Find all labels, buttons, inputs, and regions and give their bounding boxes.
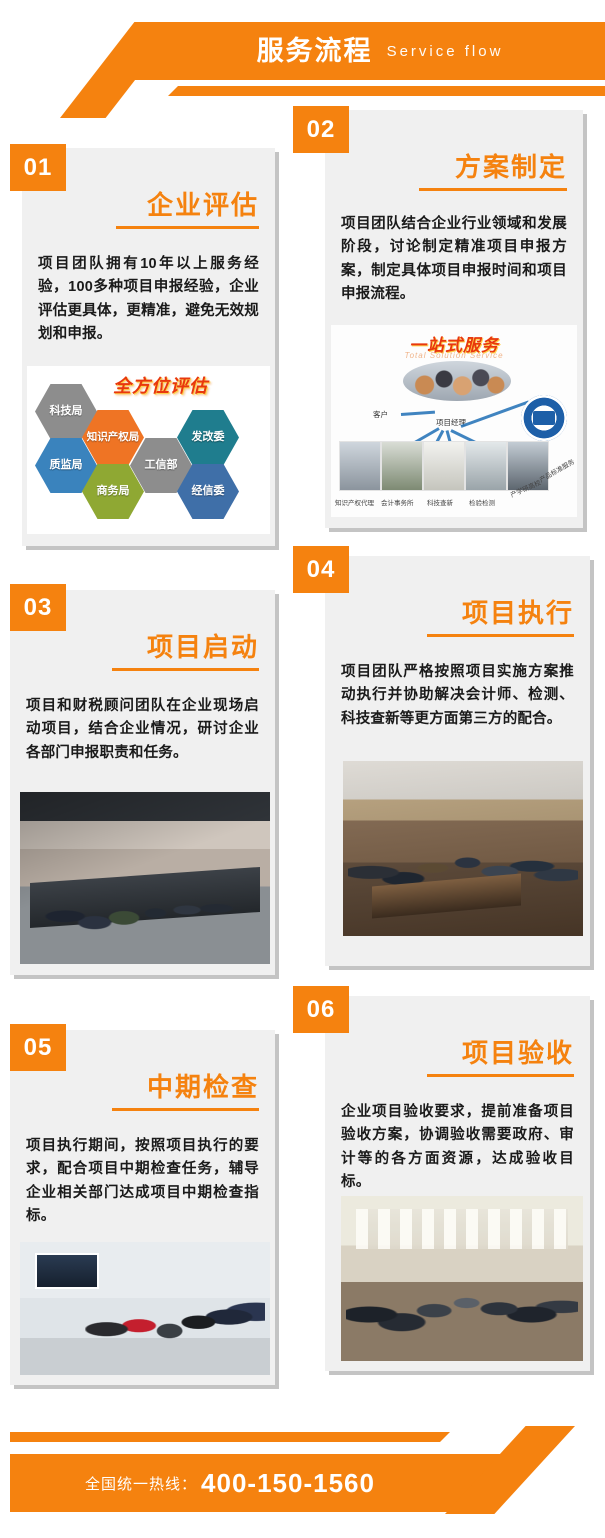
title-underline bbox=[116, 226, 259, 229]
footer-hotline-label: 全国统一热线： bbox=[85, 1473, 197, 1494]
one-stop-arrow bbox=[401, 411, 435, 416]
one-stop-label-search: 科技查新 bbox=[427, 497, 453, 507]
step-number-badge: 02 bbox=[293, 106, 349, 153]
title-underline bbox=[112, 668, 259, 671]
showroom-visit-photo bbox=[20, 1242, 270, 1375]
card-description: 项目团队拥有10年以上服务经验，100多种项目申报经验，企业评估更具体，更精准，… bbox=[38, 253, 259, 347]
step-number-badge: 05 bbox=[10, 1024, 66, 1071]
meeting-desk-photo bbox=[343, 761, 583, 936]
one-stop-thumb-search bbox=[423, 441, 465, 491]
step-card-06[interactable]: 项目验收 企业项目验收要求，提前准备项目验收方案，协调验收需要政府、审计等的各方… bbox=[325, 996, 590, 1371]
one-stop-service-diagram: 一站式服务 Total Solution Service 客户 项目经理 知识产… bbox=[331, 325, 577, 517]
page-footer: 全国统一热线： 400-150-1560 bbox=[0, 1402, 605, 1538]
one-stop-thumb-testing bbox=[465, 441, 507, 491]
conference-room-photo bbox=[20, 792, 270, 964]
page-header: 服务流程 Service flow bbox=[0, 0, 605, 118]
boardroom-photo bbox=[341, 1196, 583, 1361]
header-underline-stripe bbox=[178, 86, 605, 96]
one-stop-arrow bbox=[460, 400, 529, 427]
one-stop-team-photo bbox=[403, 361, 511, 401]
step-card-05[interactable]: 中期检查 项目执行期间，按照项目执行的要求，配合项目中期检查任务，辅导企业相关部… bbox=[10, 1030, 275, 1385]
card-description: 项目和财税顾问团队在企业现场启动项目，结合企业情况，研讨企业各部门申报职责和任务… bbox=[26, 695, 259, 765]
page-title: 服务流程 bbox=[257, 38, 373, 65]
card-title: 项目启动 bbox=[26, 634, 259, 660]
footer-hotline-number[interactable]: 400-150-1560 bbox=[201, 1468, 375, 1499]
title-underline bbox=[427, 1074, 574, 1077]
one-stop-subtitle: Total Solution Service bbox=[331, 351, 577, 360]
step-card-02[interactable]: 方案制定 项目团队结合企业行业领域和发展阶段，讨论制定精准项目申报方案，制定具体… bbox=[325, 110, 583, 528]
card-title: 方案制定 bbox=[341, 154, 567, 180]
step-card-01[interactable]: 企业评估 项目团队拥有10年以上服务经验，100多种项目申报经验，企业评估更具体… bbox=[22, 148, 275, 546]
card-title: 项目执行 bbox=[341, 600, 574, 626]
one-stop-thumb-ip bbox=[339, 441, 381, 491]
step-card-04[interactable]: 项目执行 项目团队严格按照项目实施方案推动执行并协助解决会计师、检测、科技查新等… bbox=[325, 556, 590, 966]
card-description: 项目团队严格按照项目实施方案推动执行并协助解决会计师、检测、科技查新等更方面第三… bbox=[341, 661, 574, 731]
hexagon-diagram-title: 全方位评估 bbox=[113, 372, 208, 398]
one-stop-label-accounting: 会计事务所 bbox=[381, 497, 414, 507]
footer-hotline-group: 全国统一热线： 400-150-1560 bbox=[10, 1454, 450, 1512]
certification-seal-icon bbox=[521, 395, 567, 441]
step-number-badge: 01 bbox=[10, 144, 66, 191]
card-title: 项目验收 bbox=[341, 1040, 574, 1066]
card-description: 企业项目验收要求，提前准备项目验收方案，协调验收需要政府、审计等的各方面资源，达… bbox=[341, 1101, 574, 1195]
page-subtitle: Service flow bbox=[387, 44, 504, 59]
one-stop-label-testing: 检验检测 bbox=[469, 497, 495, 507]
title-underline bbox=[419, 188, 567, 191]
step-number-badge: 04 bbox=[293, 546, 349, 593]
card-title: 中期检查 bbox=[26, 1074, 259, 1100]
card-description: 项目执行期间，按照项目执行的要求，配合项目中期检查任务，辅导企业相关部门达成项目… bbox=[26, 1135, 259, 1229]
step-number-badge: 06 bbox=[293, 986, 349, 1033]
service-flow-infographic: 服务流程 Service flow 企业评估 项目团队拥有10年以上服务经验，1… bbox=[0, 0, 605, 1538]
step-number-badge: 03 bbox=[10, 584, 66, 631]
one-stop-thumb-accounting bbox=[381, 441, 423, 491]
step-card-03[interactable]: 项目启动 项目和财税顾问团队在企业现场启动项目，结合企业情况，研讨企业各部门申报… bbox=[10, 590, 275, 975]
card-title: 企业评估 bbox=[38, 192, 259, 218]
title-underline bbox=[427, 634, 574, 637]
one-stop-label-ip: 知识产权代理 bbox=[335, 497, 374, 507]
header-title-group: 服务流程 Service flow bbox=[155, 22, 605, 80]
card-description: 项目团队结合企业行业领域和发展阶段，讨论制定精准项目申报方案，制定具体项目申报时… bbox=[341, 213, 567, 307]
hexagon-diagram: 全方位评估 科技局 知识产权局 质监局 商务局 工信部 发改委 经信委 bbox=[27, 366, 270, 534]
one-stop-node-customer: 客户 bbox=[373, 409, 388, 420]
footer-stripe bbox=[10, 1432, 440, 1442]
title-underline bbox=[112, 1108, 259, 1111]
